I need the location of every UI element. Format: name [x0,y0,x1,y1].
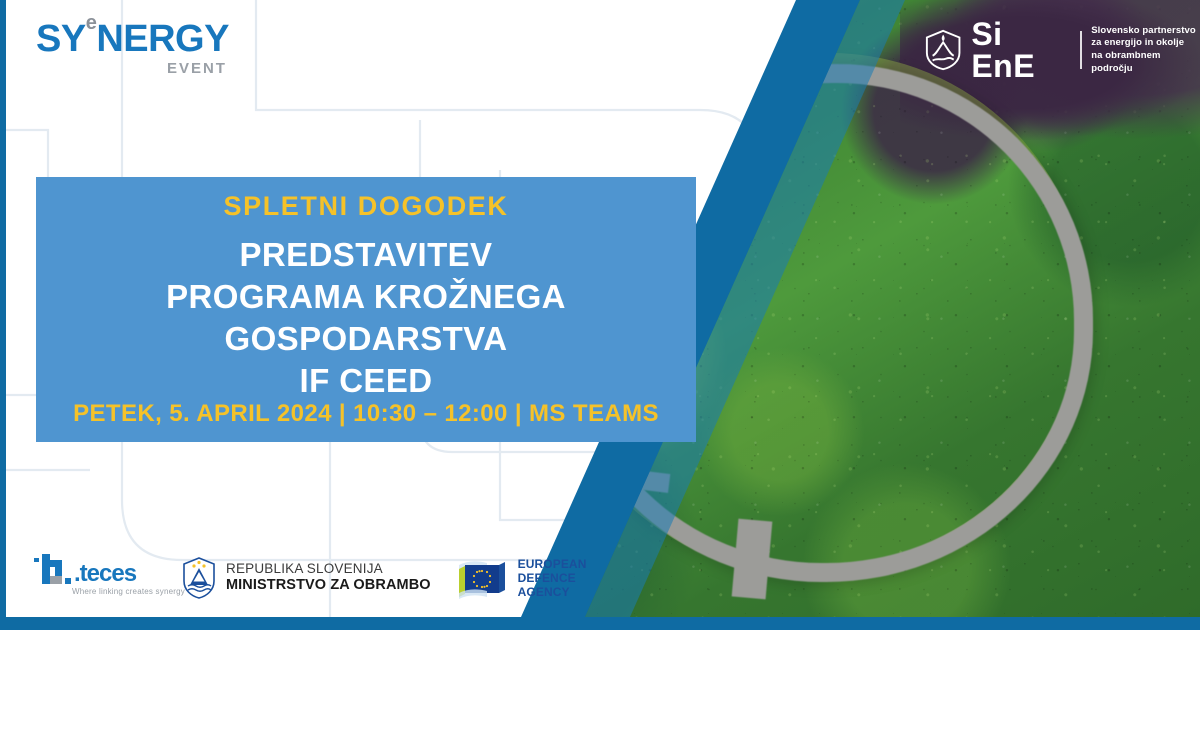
banner-card: SYeNERGY EVENT Si EnE Slovensko partners… [0,0,1200,630]
event-date-time-platform: PETEK, 5. APRIL 2024 | 10:30 – 12:00 | M… [36,400,696,428]
shield-mountain-icon [924,28,962,72]
event-kicker: SPLETNI DOGODEK [223,192,508,222]
synergy-event-logo: SYeNERGY EVENT [36,20,229,77]
european-defence-agency-logo: EUROPEAN DEFENCE AGENCY [457,556,587,600]
event-info-panel-content: SPLETNI DOGODEK PREDSTAVITEV PROGRAMA KR… [36,177,696,442]
synergy-subtitle: EVENT [36,60,227,77]
synergy-part1: SY [36,18,86,60]
ministry-of-defence-logo: REPUBLIKA SLOVENIJA MINISTRSTVO ZA OBRAM… [182,557,431,599]
synergy-wordmark: SYeNERGY [36,20,229,58]
ministry-line2: MINISTRSTVO ZA OBRAMBO [226,577,431,595]
siene-divider [1080,31,1082,69]
synergy-superscript-e: e [86,12,97,34]
synergy-part2: NERGY [96,18,229,60]
teces-wordmark: .teces [74,560,136,588]
siene-logo: Si EnE Slovensko partnerstvo za energijo… [924,18,1200,82]
partner-logos-row: .teces Where linking creates synergy REP… [32,552,586,604]
ministry-text: REPUBLIKA SLOVENIJA MINISTRSTVO ZA OBRAM… [226,561,431,595]
slovenia-coat-of-arms-icon [182,557,216,599]
siene-wordmark: Si EnE [971,18,1071,82]
siene-tagline: Slovensko partnerstvo za energijo in oko… [1091,25,1200,75]
eu-flag-icon [457,556,511,600]
bottom-accent-bar [0,617,1200,630]
teces-tagline: Where linking creates synergy [72,587,185,596]
teces-t-mark-icon [32,554,74,590]
event-banner-poster: SYeNERGY EVENT Si EnE Slovensko partners… [0,0,1200,750]
teces-logo: .teces Where linking creates synergy [32,554,160,602]
ministry-line1: REPUBLIKA SLOVENIJA [226,561,431,577]
left-accent-rail [0,0,6,617]
eda-wordmark: EUROPEAN DEFENCE AGENCY [518,557,587,599]
event-title: PREDSTAVITEV PROGRAMA KROŽNEGA GOSPODARS… [36,234,696,403]
